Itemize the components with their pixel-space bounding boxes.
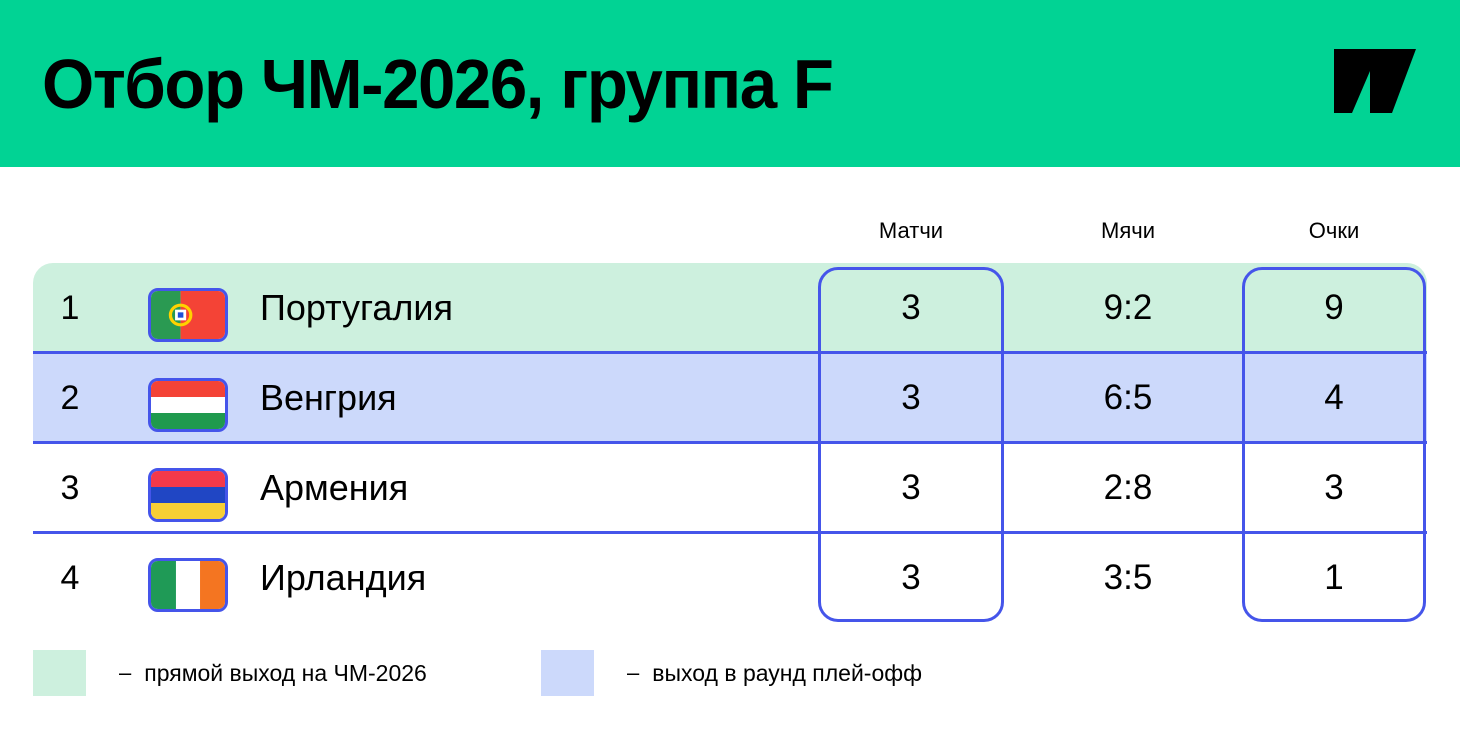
legend-label: выход в раунд плей-офф <box>652 660 922 687</box>
legend-item-playoff: – выход в раунд плей-офф <box>541 650 922 696</box>
row-divider <box>33 441 1427 444</box>
legend-dash: – <box>119 660 131 686</box>
table-row[interactable]: 3 Армения 3 2:8 3 <box>33 443 1427 533</box>
legend: – прямой выход на ЧМ-2026 – выход в раун… <box>33 650 1033 696</box>
column-header-matches: Матчи <box>818 214 1004 248</box>
row-rank: 2 <box>45 353 95 443</box>
row-team-name: Армения <box>260 443 408 533</box>
hungary-flag <box>148 378 228 432</box>
row-team-name: Ирландия <box>260 533 426 623</box>
table-row[interactable]: 4 Ирландия 3 3:5 1 <box>33 533 1427 623</box>
row-points: 1 <box>1242 533 1426 623</box>
table-row[interactable]: 1 Португалия 3 9:2 9 <box>33 263 1427 353</box>
armenia-flag <box>148 468 228 522</box>
page-header: Отбор ЧМ-2026, группа F <box>0 0 1460 167</box>
row-goals: 3:5 <box>1030 533 1226 623</box>
legend-dash: – <box>627 660 639 686</box>
column-header-points: Очки <box>1242 214 1426 248</box>
sports-ru-logo <box>1330 45 1416 113</box>
legend-swatch-blue <box>541 650 594 696</box>
table-row[interactable]: 2 Венгрия 3 6:5 4 <box>33 353 1427 443</box>
row-points: 9 <box>1242 263 1426 353</box>
page-title: Отбор ЧМ-2026, группа F <box>42 40 833 128</box>
row-matches: 3 <box>818 353 1004 443</box>
portugal-flag <box>148 288 228 342</box>
row-team-name: Португалия <box>260 263 453 353</box>
row-team-name: Венгрия <box>260 353 397 443</box>
row-goals: 2:8 <box>1030 443 1226 533</box>
legend-swatch-green <box>33 650 86 696</box>
row-rank: 3 <box>45 443 95 533</box>
row-points: 3 <box>1242 443 1426 533</box>
row-goals: 6:5 <box>1030 353 1226 443</box>
ireland-flag <box>148 558 228 612</box>
row-matches: 3 <box>818 443 1004 533</box>
legend-label: прямой выход на ЧМ-2026 <box>144 660 427 687</box>
standings-table: 1 Португалия 3 9:2 9 2 Венгрия 3 6:5 <box>33 263 1427 622</box>
row-rank: 4 <box>45 533 95 623</box>
row-rank: 1 <box>45 263 95 353</box>
row-points: 4 <box>1242 353 1426 443</box>
table-column-headers: Матчи Мячи Очки <box>0 214 1460 250</box>
row-matches: 3 <box>818 263 1004 353</box>
row-divider <box>33 531 1427 534</box>
row-matches: 3 <box>818 533 1004 623</box>
legend-item-direct: – прямой выход на ЧМ-2026 <box>33 650 427 696</box>
row-divider <box>33 351 1427 354</box>
column-header-goals: Мячи <box>1030 214 1226 248</box>
row-goals: 9:2 <box>1030 263 1226 353</box>
